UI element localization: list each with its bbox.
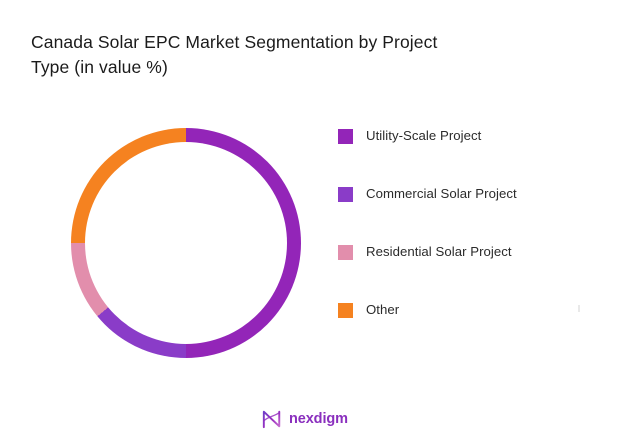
brand-name: nexdigm (289, 409, 348, 429)
legend-item-commercial-solar-project[interactable]: Commercial Solar Project (338, 186, 588, 244)
page-title: Canada Solar EPC Market Segmentation by … (31, 30, 531, 80)
legend-swatch-icon (338, 187, 353, 202)
legend-swatch-icon (338, 303, 353, 318)
legend-item-label: Utility-Scale Project (366, 128, 481, 144)
legend-item-label: Other (366, 302, 399, 318)
brand-logo: nexdigm (261, 409, 348, 429)
donut-chart (71, 128, 301, 358)
edge-artifact (578, 305, 580, 312)
legend-item-label: Residential Solar Project (366, 244, 512, 260)
legend-item-residential-solar-project[interactable]: Residential Solar Project (338, 244, 588, 302)
legend-item-other[interactable]: Other (338, 302, 588, 318)
legend-item-label: Commercial Solar Project (366, 186, 517, 202)
donut-center-hole (85, 142, 287, 344)
legend-swatch-icon (338, 245, 353, 260)
chart-legend: Utility-Scale Project Commercial Solar P… (338, 128, 588, 318)
nexdigm-n-logo-icon (261, 409, 283, 429)
slide-canvas: Canada Solar EPC Market Segmentation by … (0, 0, 618, 440)
legend-item-utility-scale-project[interactable]: Utility-Scale Project (338, 128, 588, 186)
legend-swatch-icon (338, 129, 353, 144)
